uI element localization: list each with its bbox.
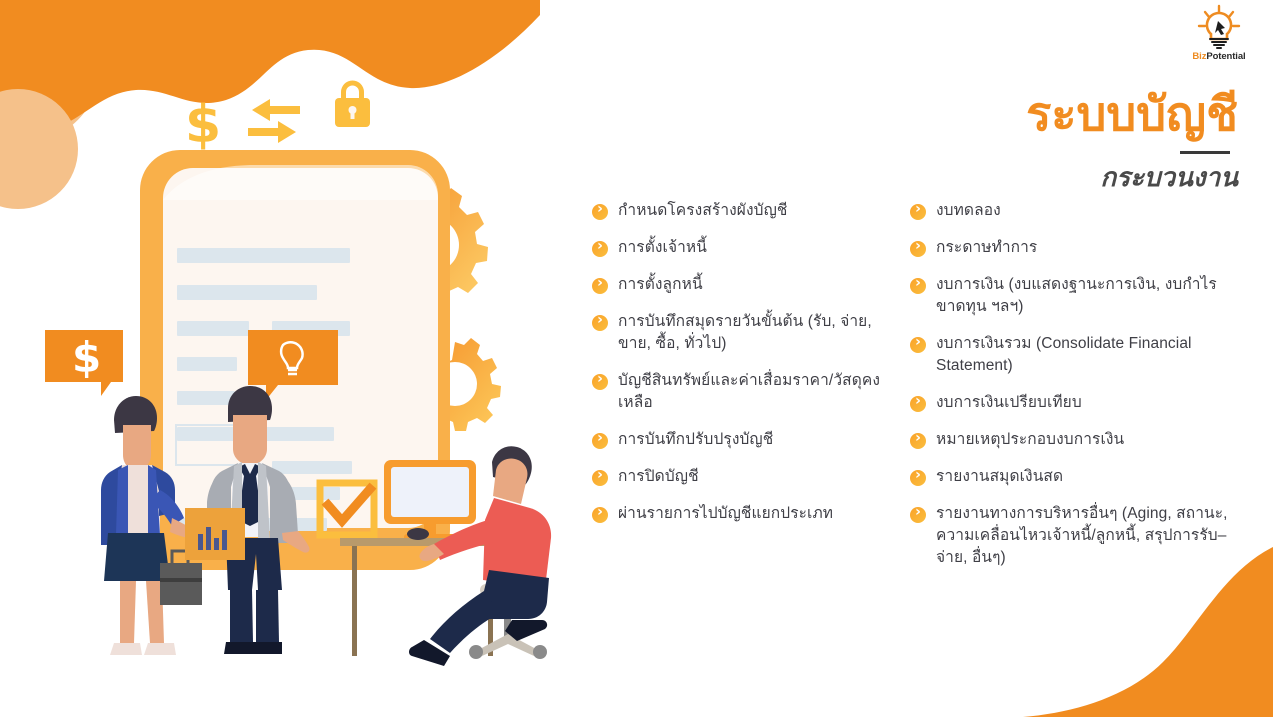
chevron-right-icon (592, 315, 608, 331)
chevron-right-icon (910, 241, 926, 257)
list-item-label: การปิดบัญชี (618, 466, 699, 488)
dollar-bubble-icon: $ (45, 330, 123, 396)
list-item[interactable]: การตั้งเจ้าหนี้ (592, 237, 892, 259)
chevron-right-icon (592, 507, 608, 523)
lightbulb-icon (1195, 4, 1243, 50)
list-item[interactable]: การบันทึกสมุดรายวันขั้นต้น (รับ, จ่าย, ข… (592, 311, 892, 355)
chevron-right-icon (910, 433, 926, 449)
dollar-sign-icon: $ (185, 95, 221, 155)
page-subtitle: กระบวนงาน (738, 161, 1238, 193)
list-item[interactable]: งบทดลอง (910, 200, 1240, 222)
svg-text:$: $ (72, 333, 101, 382)
list-item-label: ผ่านรายการไปบัญชีแยกประเภท (618, 503, 833, 525)
list-item-label: รายงานทางการบริหารอื่นๆ (Aging, สถานะ, ค… (936, 503, 1240, 569)
page-heading: ระบบบัญชี กระบวนงาน (738, 85, 1238, 193)
chevron-right-icon (910, 470, 926, 486)
chevron-right-icon (910, 204, 926, 220)
list-item[interactable]: รายงานทางการบริหารอื่นๆ (Aging, สถานะ, ค… (910, 503, 1240, 569)
chevron-right-icon (910, 337, 926, 353)
list-item-label: การบันทึกปรับปรุงบัญชี (618, 429, 773, 451)
list-item[interactable]: รายงานสมุดเงินสด (910, 466, 1240, 488)
list-item[interactable]: กระดาษทำการ (910, 237, 1240, 259)
list-item[interactable]: งบการเงิน (งบแสดงฐานะการเงิน, งบกำไรขาดท… (910, 274, 1240, 318)
title-divider (738, 143, 1238, 161)
accounting-illustration: $ (0, 0, 580, 717)
brand-name: BizPotential (1179, 51, 1259, 63)
list-item[interactable]: งบการเงินรวม (Consolidate Financial Stat… (910, 333, 1240, 377)
list-item-label: รายงานสมุดเงินสด (936, 466, 1063, 488)
list-item[interactable]: การบันทึกปรับปรุงบัญชี (592, 429, 892, 451)
transfer-arrows-icon (248, 99, 300, 143)
list-item[interactable]: ผ่านรายการไปบัญชีแยกประเภท (592, 503, 892, 525)
brand-logo: BizPotential (1179, 4, 1259, 63)
padlock-icon (335, 81, 370, 128)
list-item-label: งบการเงินรวม (Consolidate Financial Stat… (936, 333, 1240, 377)
process-lists: กำหนดโครงสร้างผังบัญชี การตั้งเจ้าหนี้ ก… (592, 200, 1252, 584)
list-item-label: งบการเงินเปรียบเทียบ (936, 392, 1082, 414)
brand-name-potential: Potential (1206, 51, 1245, 62)
process-list-right: งบทดลอง กระดาษทำการ งบการเงิน (งบแสดงฐาน… (910, 200, 1240, 584)
list-item-label: การตั้งเจ้าหนี้ (618, 237, 707, 259)
list-item-label: หมายเหตุประกอบงบการเงิน (936, 429, 1124, 451)
page-title: ระบบบัญชี (738, 85, 1238, 143)
chevron-right-icon (592, 241, 608, 257)
chevron-right-icon (592, 470, 608, 486)
list-item-label: การบันทึกสมุดรายวันขั้นต้น (รับ, จ่าย, ข… (618, 311, 892, 355)
list-item-label: งบการเงิน (งบแสดงฐานะการเงิน, งบกำไรขาดท… (936, 274, 1240, 318)
list-item[interactable]: การปิดบัญชี (592, 466, 892, 488)
chevron-right-icon (592, 204, 608, 220)
brand-name-biz: Biz (1192, 51, 1206, 62)
list-item[interactable]: หมายเหตุประกอบงบการเงิน (910, 429, 1240, 451)
chevron-right-icon (910, 396, 926, 412)
list-item-label: กระดาษทำการ (936, 237, 1037, 259)
list-item[interactable]: การตั้งลูกหนี้ (592, 274, 892, 296)
chevron-right-icon (910, 507, 926, 523)
chevron-right-icon (910, 278, 926, 294)
list-item-label: การตั้งลูกหนี้ (618, 274, 703, 296)
list-item[interactable]: กำหนดโครงสร้างผังบัญชี (592, 200, 892, 222)
list-item-label: กำหนดโครงสร้างผังบัญชี (618, 200, 788, 222)
list-item[interactable]: บัญชีสินทรัพย์และค่าเสื่อมราคา/วัสดุคงเห… (592, 370, 892, 414)
process-list-left: กำหนดโครงสร้างผังบัญชี การตั้งเจ้าหนี้ ก… (592, 200, 892, 584)
list-item-label: งบทดลอง (936, 200, 1001, 222)
chevron-right-icon (592, 374, 608, 390)
chevron-right-icon (592, 433, 608, 449)
chevron-right-icon (592, 278, 608, 294)
list-item-label: บัญชีสินทรัพย์และค่าเสื่อมราคา/วัสดุคงเห… (618, 370, 892, 414)
svg-text:$: $ (185, 95, 221, 155)
list-item[interactable]: งบการเงินเปรียบเทียบ (910, 392, 1240, 414)
